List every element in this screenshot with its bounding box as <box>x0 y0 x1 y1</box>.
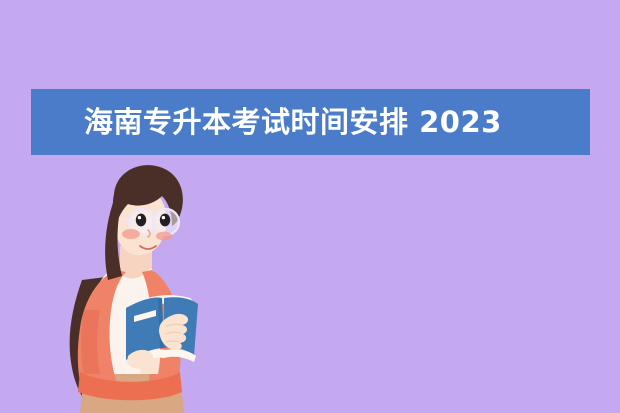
title-banner: 海南专升本考试时间安排 2023 <box>31 89 590 155</box>
right-cheek <box>156 232 172 241</box>
page-title: 海南专升本考试时间安排 2023 <box>84 108 502 137</box>
right-eye-highlight <box>162 216 165 219</box>
right-eye <box>160 214 170 227</box>
woman-reading-book-illustration <box>28 160 228 413</box>
poster-canvas: 海南专升本考试时间安排 2023 <box>0 0 620 413</box>
left-eye <box>136 214 146 227</box>
left-cheek <box>122 229 140 239</box>
left-eye-highlight <box>138 216 141 219</box>
